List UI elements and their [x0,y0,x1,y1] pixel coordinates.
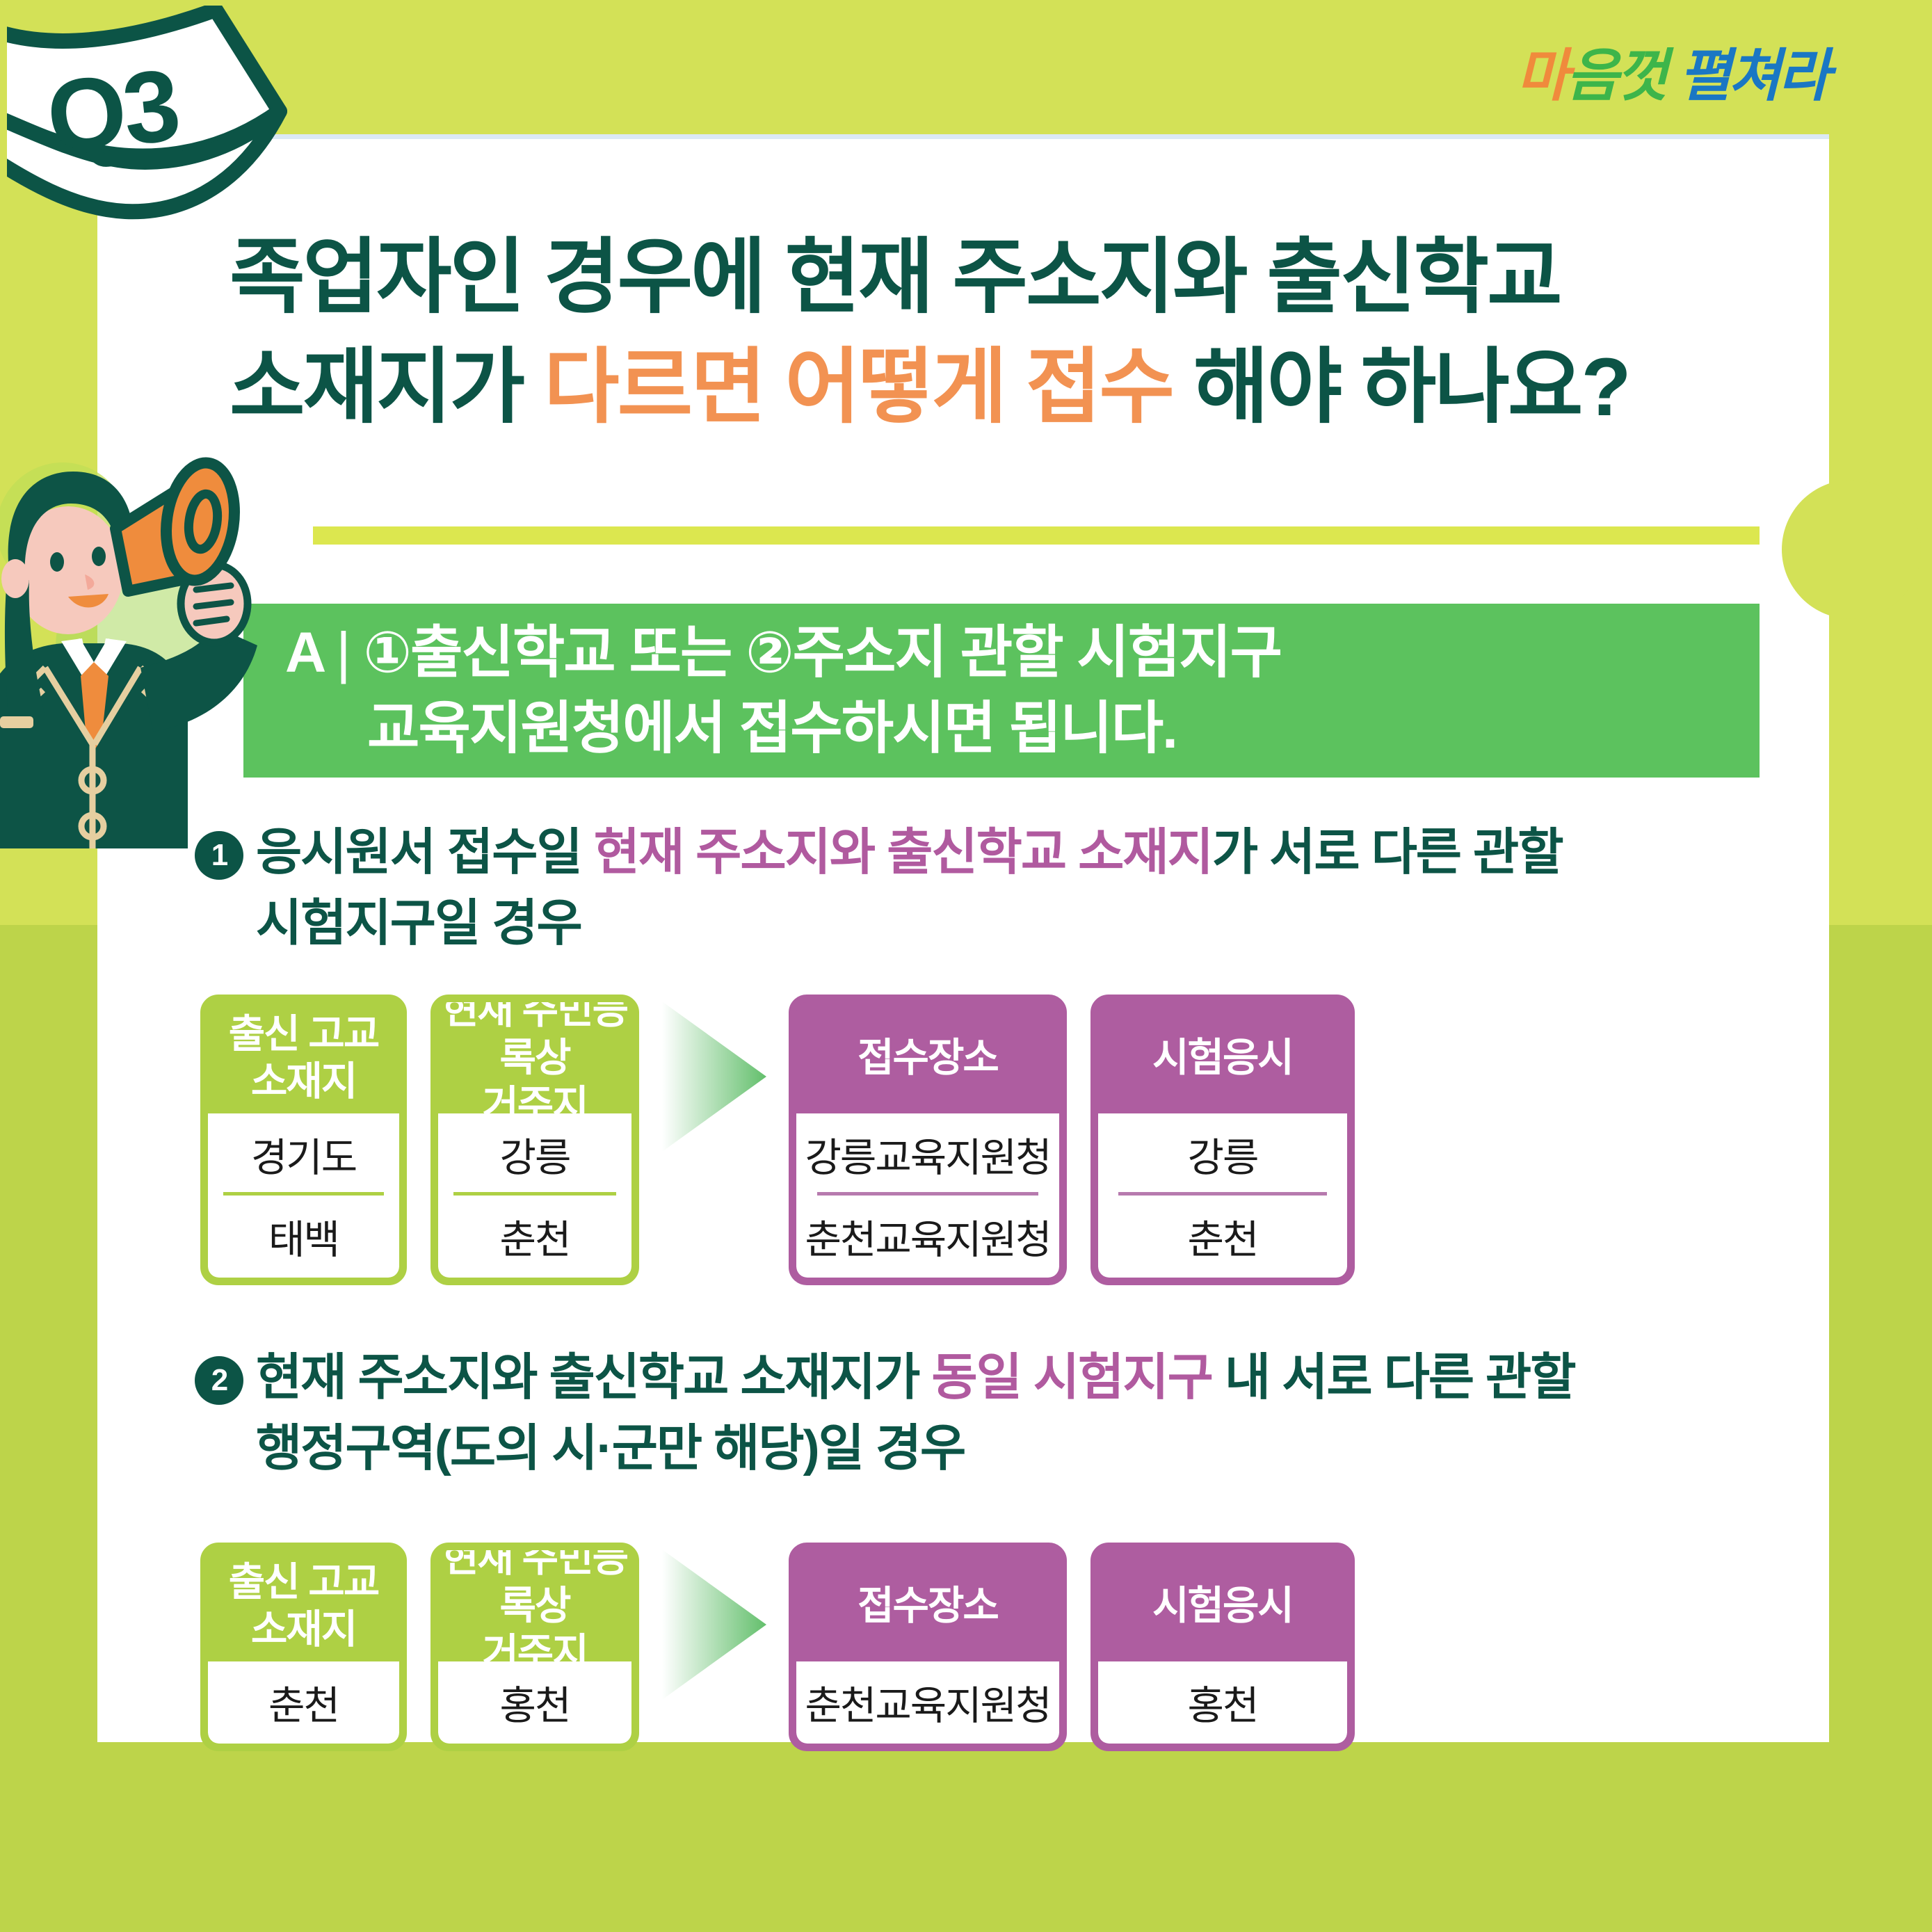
card-origin-highschool-1-body: 경기도 태백 [208,1113,399,1278]
item-1-text-highlight: 현재 주소지와 출신학교 소재지 [594,825,1212,880]
page-title: 족업자인 경우에 현재 주소지와 출신학교 소재지가 다르면 어떻게 접수 해야… [230,223,1746,442]
card-application-place-2-body: 춘천교육지원청 [796,1661,1059,1744]
card-exam-location-2: 시험응시 홍천 [1090,1543,1355,1751]
card-residence-2-value-1: 홍천 [438,1661,631,1744]
card-origin-highschool-2-header-line1: 출신 고교 [229,1559,379,1606]
card-application-place-1-value-1: 강릉교육지원청 [796,1113,1059,1196]
bottom-background-strip [0,1742,1932,1932]
card-application-place-1-value-2: 춘천교육지원청 [796,1196,1059,1278]
card-origin-highschool-2-header-line2: 소재지 [229,1606,379,1653]
question-badge-label: Q3 [42,47,183,177]
card-exam-location-2-header: 시험응시 [1098,1550,1347,1661]
card-exam-location-2-body: 홍천 [1098,1661,1347,1744]
answer-line1: A|①출신학교 또는 ②주소지 관할 시험지구 [285,615,1281,691]
answer-line2: 교육지원청에서 접수하시면 됩니다. [285,691,1281,766]
card-origin-highschool-1: 출신 고교 소재지 경기도 태백 [200,995,407,1285]
answer-banner: A|①출신학교 또는 ②주소지 관할 시험지구 교육지원청에서 접수하시면 됩니… [243,604,1760,778]
card-exam-location-1: 시험응시 강릉 춘천 [1090,995,1355,1285]
item-2-text-highlight: 동일 시험지구 [931,1350,1211,1406]
flow-arrow-container-1 [639,995,789,1154]
card-exam-location-1-value-1: 강릉 [1098,1113,1347,1196]
brand-logo-part2: 음껏 [1566,45,1666,108]
card-exam-location-2-value-1: 홍천 [1098,1661,1347,1744]
page-title-line2: 소재지가 다르면 어떻게 접수 해야 하나요? [230,332,1746,442]
page-title-line2-suffix: 해야 하나요? [1173,341,1629,433]
card-application-place-2: 접수장소 춘천교육지원청 [789,1543,1067,1751]
page-title-line1: 족업자인 경우에 현재 주소지와 출신학교 [230,223,1746,332]
card-application-place-2-header: 접수장소 [796,1550,1059,1661]
card-origin-highschool-1-value-1: 경기도 [208,1113,399,1196]
brand-logo-part1: 마 [1517,45,1566,108]
item-1-text-prefix: 응시원서 접수일 [256,825,594,880]
card-application-place-1: 접수장소 강릉교육지원청 춘천교육지원청 [789,995,1067,1285]
item-2-heading: 2현재 주소지와 출신학교 소재지가 동일 시험지구 내 서로 다른 관할 행정… [195,1342,1753,1484]
card-origin-highschool-2: 출신 고교 소재지 춘천 [200,1543,407,1751]
item-1-line2: 시험지구일 경우 [195,888,1753,959]
card-origin-highschool-2-body: 춘천 [208,1661,399,1744]
right-edge-circle-decoration [1782,480,1921,619]
card-residence-2-header-line1: 현재 주민등록상 [438,1543,631,1629]
card-residence-1: 현재 주민등록상 거주지 강릉 춘천 [430,995,639,1285]
flow-arrow-icon-1 [662,995,766,1154]
answer-separator: | [336,621,349,684]
item-2-text-suffix: 내 서로 다른 관할 [1212,1350,1575,1406]
card-residence-1-body: 강릉 춘천 [438,1113,631,1278]
title-divider [313,526,1760,545]
card-exam-location-1-header: 시험응시 [1098,1002,1347,1113]
card-residence-2-body: 홍천 [438,1661,631,1744]
page-title-highlight: 다르면 어떻게 접수 [544,341,1173,433]
card-residence-1-header-line1: 현재 주민등록상 [438,995,631,1081]
item-2-card-row: 출신 고교 소재지 춘천 현재 주민등록상 거주지 홍천 [200,1543,1355,1751]
card-residence-2: 현재 주민등록상 거주지 홍천 [430,1543,639,1751]
card-origin-highschool-2-header: 출신 고교 소재지 [208,1550,399,1661]
answer-line1-text: ①출신학교 또는 ②주소지 관할 시험지구 [364,621,1282,684]
card-origin-highschool-1-header-line2: 소재지 [229,1058,379,1105]
answer-mark: A [285,621,325,684]
card-origin-highschool-1-header-line1: 출신 고교 [229,1011,379,1058]
flow-arrow-icon-2 [662,1543,766,1702]
card-application-place-1-body: 강릉교육지원청 춘천교육지원청 [796,1113,1059,1278]
card-residence-1-header: 현재 주민등록상 거주지 [438,1002,631,1113]
answer-banner-text: A|①출신학교 또는 ②주소지 관할 시험지구 교육지원청에서 접수하시면 됩니… [243,615,1281,766]
card-exam-location-1-value-2: 춘천 [1098,1196,1347,1278]
card-residence-1-value-1: 강릉 [438,1113,631,1196]
mascot-illustration [0,417,278,848]
card-origin-highschool-2-value-1: 춘천 [208,1661,399,1744]
item-1-text-suffix: 가 서로 다른 관할 [1212,825,1563,880]
brand-logo: 마음껏 펼쳐라 [1517,29,1828,112]
item-1-heading: 1응시원서 접수일 현재 주소지와 출신학교 소재지가 서로 다른 관할 시험지… [195,817,1753,959]
brand-logo-part3: 펼쳐라 [1679,45,1828,108]
item-2-number: 2 [195,1356,243,1405]
item-1-card-row: 출신 고교 소재지 경기도 태백 현재 주민등록상 거주지 강릉 춘천 [200,995,1355,1285]
card-application-place-2-value-1: 춘천교육지원청 [796,1661,1059,1744]
item-2-text-prefix: 현재 주소지와 출신학교 소재지가 [256,1350,931,1406]
card-origin-highschool-1-header: 출신 고교 소재지 [208,1002,399,1113]
question-badge: Q3 [7,6,341,235]
flow-arrow-container-2 [639,1543,789,1702]
card-residence-2-header: 현재 주민등록상 거주지 [438,1550,631,1661]
card-origin-highschool-1-value-2: 태백 [208,1196,399,1278]
card-exam-location-1-body: 강릉 춘천 [1098,1113,1347,1278]
card-application-place-1-header: 접수장소 [796,1002,1059,1113]
card-residence-1-value-2: 춘천 [438,1196,631,1278]
item-2-line2: 행정구역(도의 시·군만 해당)일 경우 [195,1413,1753,1484]
